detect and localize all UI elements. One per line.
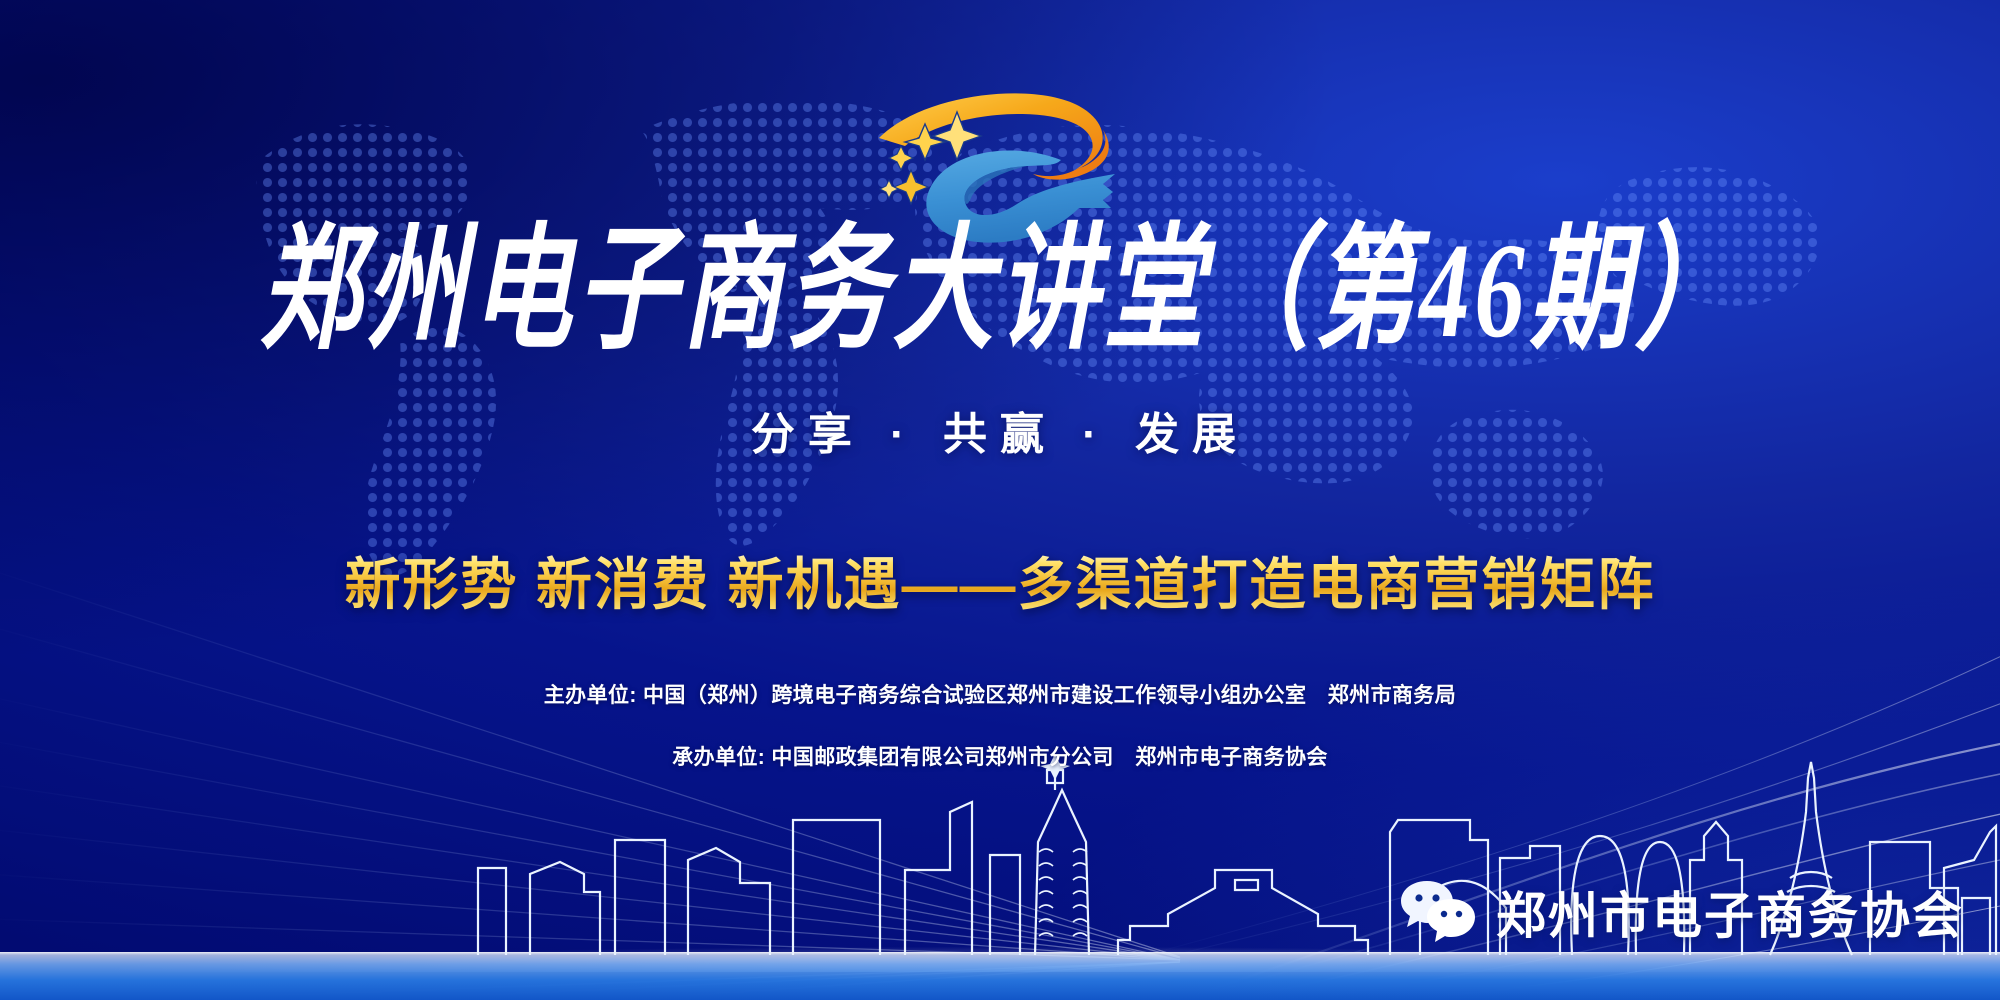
poster-canvas: 郑州电子商务大讲堂（第46期） 分享 · 共赢 · 发展 新形势 新消费 新机遇… — [0, 0, 2000, 1000]
page-title: 郑州电子商务大讲堂（第46期） — [0, 196, 2000, 386]
theme-line-text: 新形势 新消费 新机遇——多渠道打造电商营销矩阵 — [344, 553, 1655, 616]
page-subtitle: 分享 · 共赢 · 发展 — [0, 398, 2000, 462]
page-title-art: 郑州电子商务大讲堂（第46期） — [240, 196, 1760, 386]
theme-line: 新形势 新消费 新机遇——多渠道打造电商营销矩阵 — [0, 540, 2000, 621]
page-title-text: 郑州电子商务大讲堂（第46期） — [260, 216, 1740, 366]
wechat-account-badge: 郑州市电子商务协会 — [1400, 876, 1964, 948]
organizer-line-coorganizer: 承办单位: 中国邮政集团有限公司郑州市分公司 郑州市电子商务协会 — [0, 741, 2000, 771]
wechat-account-name: 郑州市电子商务协会 — [1496, 876, 1964, 948]
city-skyline-outline — [0, 750, 2000, 1000]
organizer-line-host: 主办单位: 中国（郑州）跨境电子商务综合试验区郑州市建设工作领导小组办公室 郑州… — [0, 679, 2000, 709]
wechat-icon — [1400, 879, 1478, 945]
